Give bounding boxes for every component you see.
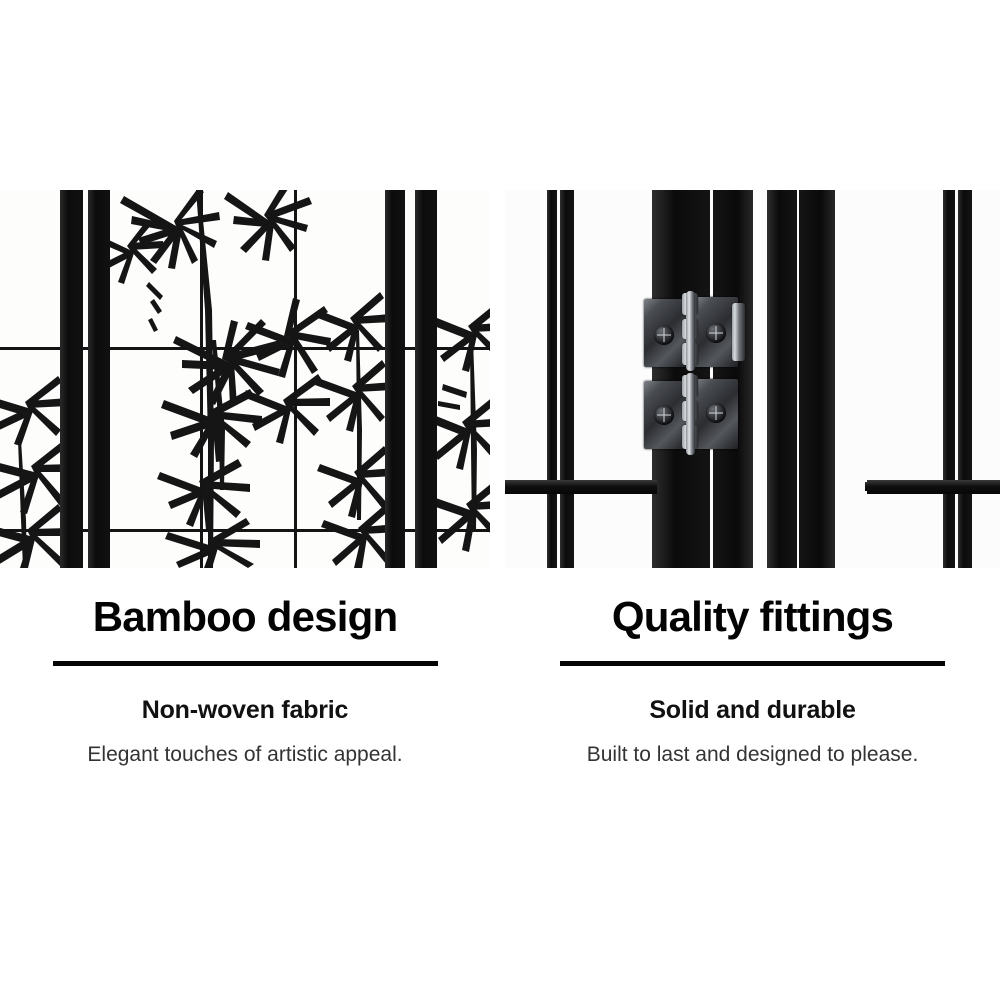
screen-post-left-outer bbox=[60, 190, 83, 568]
screen-post-right-outer bbox=[415, 190, 437, 568]
bamboo-screen-photo bbox=[0, 190, 490, 568]
feature-block-quality-fittings: Quality fittings Solid and durable Built… bbox=[505, 595, 1000, 767]
hinge-screw-upper-left bbox=[654, 325, 674, 345]
hinge-photo-post-8 bbox=[958, 190, 972, 568]
screen-post-left-inner bbox=[88, 190, 110, 568]
hinge-screw-upper-right bbox=[706, 323, 726, 343]
hinge-pin-upper bbox=[686, 291, 695, 371]
feature-caption: Elegant touches of artistic appeal. bbox=[0, 743, 490, 767]
hinge-pin-lower bbox=[686, 373, 695, 455]
feature-subheading: Non-woven fabric bbox=[0, 696, 490, 725]
hinge-photo-post-1 bbox=[547, 190, 557, 568]
feature-caption: Built to last and designed to please. bbox=[505, 743, 1000, 767]
hinge-close-up-photo bbox=[505, 190, 1000, 568]
hinge-photo-post-2 bbox=[560, 190, 574, 568]
feature-divider-rule bbox=[560, 661, 945, 666]
hinge-photo-post-5 bbox=[767, 190, 797, 568]
product-feature-page: Bamboo design Non-woven fabric Elegant t… bbox=[0, 0, 1000, 1000]
foreground-crossbar-right bbox=[867, 480, 1000, 494]
feature-heading: Bamboo design bbox=[0, 595, 490, 639]
feature-divider-rule bbox=[53, 661, 438, 666]
frame-grid-vertical-2 bbox=[294, 190, 297, 568]
metal-hinge bbox=[642, 295, 757, 455]
hinge-photo-post-7 bbox=[943, 190, 955, 568]
hinge-barrel-upper bbox=[732, 303, 745, 361]
screen-post-right-inner bbox=[385, 190, 405, 568]
feature-heading: Quality fittings bbox=[505, 595, 1000, 639]
frame-grid-vertical-1 bbox=[200, 190, 203, 568]
hinge-photo-post-6 bbox=[799, 190, 835, 568]
photo-strip bbox=[0, 190, 1000, 568]
feature-block-bamboo-design: Bamboo design Non-woven fabric Elegant t… bbox=[0, 595, 490, 767]
hinge-screw-lower-right bbox=[706, 403, 726, 423]
foreground-crossbar-left bbox=[505, 480, 657, 494]
feature-subheading: Solid and durable bbox=[505, 696, 1000, 725]
hinge-screw-lower-left bbox=[654, 405, 674, 425]
